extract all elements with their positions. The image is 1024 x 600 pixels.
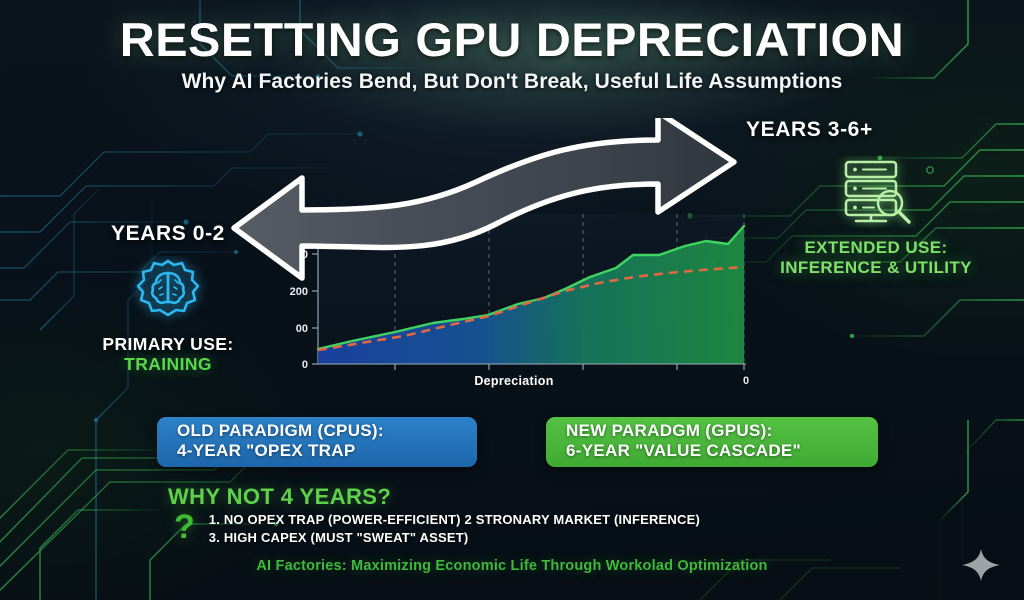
new-paradigm-line2: 6-YEAR "VALUE CASCADE" — [566, 441, 878, 461]
right-callout: YEARS 3-6+ EXTENDED USE: INFERENCE & UTI — [742, 118, 1010, 279]
sparkle-watermark-icon — [960, 548, 1002, 582]
right-years-label: YEARS 3-6+ — [742, 118, 1010, 142]
depreciation-chart: 200 500 200 00 0 — [276, 208, 752, 388]
infographic-canvas: RESETTING GPU DEPRECIATION Why AI Factor… — [0, 0, 1024, 600]
page-title: RESETTING GPU DEPRECIATION — [0, 16, 1024, 65]
brain-gear-icon — [127, 256, 209, 326]
why-not-4-years-block: WHY NOT 4 YEARS? ? 1. NO OPEX TRAP (POWE… — [168, 484, 848, 548]
server-search-icon — [834, 156, 918, 228]
old-paradigm-line1: OLD PARADIGM (CPUS): — [177, 421, 477, 441]
why-title: WHY NOT 4 YEARS? — [168, 484, 848, 510]
left-years-label: YEARS 0-2 — [62, 222, 274, 246]
y-tick-label: 200 — [290, 212, 308, 224]
why-reason-line-1: 1. NO OPEX TRAP (POWER-EFFICIENT) 2 STRO… — [209, 511, 700, 529]
y-tick-label: 200 — [290, 286, 308, 298]
old-paradigm-line2: 4-YEAR "OPEX TRAP — [177, 441, 477, 461]
footer-tagline: AI Factories: Maximizing Economic Life T… — [0, 558, 1024, 574]
left-callout: YEARS 0-2 PRIMARY USE: TRAINING — [62, 222, 274, 375]
new-paradigm-box[interactable]: NEW PARADGM (GPUS): 6-YEAR "VALUE CASCAD… — [546, 417, 878, 467]
question-mark-icon: ? — [174, 514, 195, 542]
x-tick-label: 0 — [743, 375, 749, 387]
right-use-line1: EXTENDED USE: — [742, 238, 1010, 258]
new-paradigm-line1: NEW PARADGM (GPUS): — [566, 421, 878, 441]
left-use-heading: PRIMARY USE: — [62, 334, 274, 354]
left-use-value: TRAINING — [62, 354, 274, 374]
old-paradigm-box[interactable]: OLD PARADIGM (CPUS): 4-YEAR "OPEX TRAP — [157, 417, 477, 467]
y-tick-label: 00 — [296, 323, 308, 335]
header: RESETTING GPU DEPRECIATION Why AI Factor… — [0, 16, 1024, 94]
right-use-line2: INFERENCE & UTILITY — [742, 258, 1010, 278]
page-subtitle: Why AI Factories Bend, But Don't Break, … — [0, 70, 1024, 94]
x-axis: 0 Depreciation — [318, 364, 749, 388]
y-tick-label: 500 — [290, 249, 308, 261]
x-axis-label: Depreciation — [474, 374, 553, 388]
chart-svg: 200 500 200 00 0 — [276, 208, 752, 388]
why-reason-line-2: 3. HIGH CAPEX (MUST "SWEAT" ASSET) — [209, 529, 700, 547]
y-tick-label: 0 — [302, 359, 308, 371]
y-axis: 200 500 200 00 0 — [290, 212, 318, 371]
